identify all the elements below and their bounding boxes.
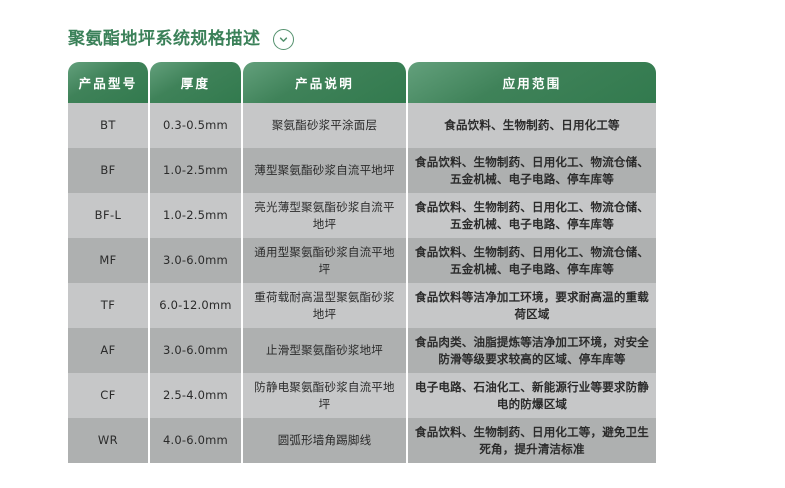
column-header-application: 应用范围 — [408, 62, 656, 103]
section-header: 聚氨酯地坪系统规格描述 — [68, 25, 294, 53]
cell-model: CF — [68, 373, 150, 418]
cell-model: BT — [68, 103, 150, 148]
page-root: 聚氨酯地坪系统规格描述 产品型号 厚度 产品说明 应用范围 BT 0.3-0 — [0, 0, 785, 488]
cell-description: 止滑型聚氨酯砂浆地坪 — [243, 328, 408, 373]
cell-model: AF — [68, 328, 150, 373]
page-title: 聚氨酯地坪系统规格描述 — [68, 25, 261, 53]
cell-description: 重荷载耐高温型聚氨酯砂浆地坪 — [243, 283, 408, 328]
cell-model: TF — [68, 283, 150, 328]
table-row: CF 2.5-4.0mm 防静电聚氨酯砂浆自流平地坪 电子电路、石油化工、新能源… — [68, 373, 656, 418]
cell-application: 食品饮料、生物制药、日用化工等 — [408, 103, 656, 148]
column-header-thickness: 厚度 — [150, 62, 243, 103]
table-row: BF-L 1.0-2.5mm 亮光薄型聚氨酯砂浆自流平地坪 食品饮料、生物制药、… — [68, 193, 656, 238]
cell-model: BF — [68, 148, 150, 193]
column-header-model: 产品型号 — [68, 62, 150, 103]
cell-description: 亮光薄型聚氨酯砂浆自流平地坪 — [243, 193, 408, 238]
table-body: BT 0.3-0.5mm 聚氨酯砂浆平涂面层 食品饮料、生物制药、日用化工等 B… — [68, 103, 656, 463]
cell-thickness: 3.0-6.0mm — [150, 238, 243, 283]
cell-description: 聚氨酯砂浆平涂面层 — [243, 103, 408, 148]
column-header-description: 产品说明 — [243, 62, 408, 103]
cell-application: 食品饮料等洁净加工环境，要求耐高温的重载荷区域 — [408, 283, 656, 328]
table-row: WR 4.0-6.0mm 圆弧形墙角踢脚线 食品饮料、生物制药、日用化工等，避免… — [68, 418, 656, 463]
chevron-down-circle-icon[interactable] — [273, 29, 294, 50]
cell-thickness: 2.5-4.0mm — [150, 373, 243, 418]
cell-thickness: 0.3-0.5mm — [150, 103, 243, 148]
table-row: AF 3.0-6.0mm 止滑型聚氨酯砂浆地坪 食品肉类、油脂提炼等洁净加工环境… — [68, 328, 656, 373]
cell-description: 薄型聚氨酯砂浆自流平地坪 — [243, 148, 408, 193]
cell-thickness: 1.0-2.5mm — [150, 148, 243, 193]
table-row: MF 3.0-6.0mm 通用型聚氨酯砂浆自流平地坪 食品饮料、生物制药、日用化… — [68, 238, 656, 283]
cell-description: 通用型聚氨酯砂浆自流平地坪 — [243, 238, 408, 283]
cell-thickness: 3.0-6.0mm — [150, 328, 243, 373]
cell-thickness: 6.0-12.0mm — [150, 283, 243, 328]
cell-model: MF — [68, 238, 150, 283]
table-row: BT 0.3-0.5mm 聚氨酯砂浆平涂面层 食品饮料、生物制药、日用化工等 — [68, 103, 656, 148]
table-header: 产品型号 厚度 产品说明 应用范围 — [68, 62, 656, 103]
cell-application: 食品肉类、油脂提炼等洁净加工环境，对安全防滑等级要求较高的区域、停车库等 — [408, 328, 656, 373]
cell-description: 圆弧形墙角踢脚线 — [243, 418, 408, 463]
cell-application: 食品饮料、生物制药、日用化工、物流仓储、五金机械、电子电路、停车库等 — [408, 148, 656, 193]
cell-thickness: 4.0-6.0mm — [150, 418, 243, 463]
table-row: BF 1.0-2.5mm 薄型聚氨酯砂浆自流平地坪 食品饮料、生物制药、日用化工… — [68, 148, 656, 193]
cell-application: 食品饮料、生物制药、日用化工、物流仓储、五金机械、电子电路、停车库等 — [408, 238, 656, 283]
cell-description: 防静电聚氨酯砂浆自流平地坪 — [243, 373, 408, 418]
cell-model: WR — [68, 418, 150, 463]
cell-thickness: 1.0-2.5mm — [150, 193, 243, 238]
table-row: TF 6.0-12.0mm 重荷载耐高温型聚氨酯砂浆地坪 食品饮料等洁净加工环境… — [68, 283, 656, 328]
spec-table: 产品型号 厚度 产品说明 应用范围 BT 0.3-0.5mm 聚氨酯砂浆平涂面层… — [68, 62, 656, 463]
cell-application: 电子电路、石油化工、新能源行业等要求防静电的防爆区域 — [408, 373, 656, 418]
cell-application: 食品饮料、生物制药、日用化工等，避免卫生死角，提升清洁标准 — [408, 418, 656, 463]
cell-application: 食品饮料、生物制药、日用化工、物流仓储、五金机械、电子电路、停车库等 — [408, 193, 656, 238]
cell-model: BF-L — [68, 193, 150, 238]
table-header-row: 产品型号 厚度 产品说明 应用范围 — [68, 62, 656, 103]
